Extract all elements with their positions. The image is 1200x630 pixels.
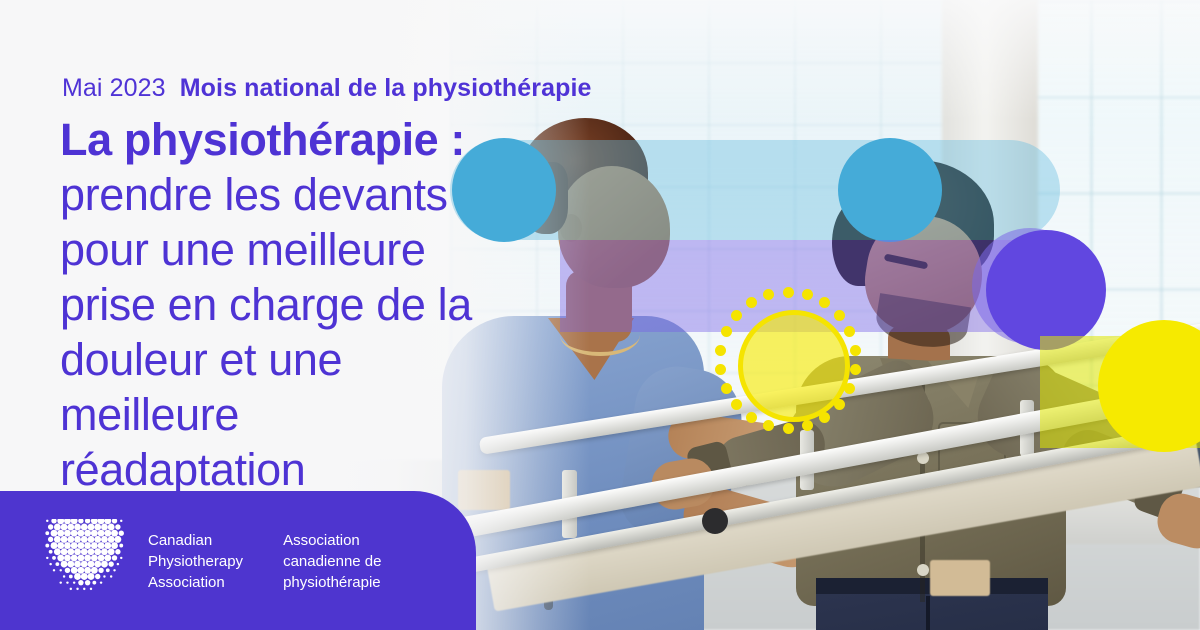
logo-panel: Canadian Physiotherapy Association Assoc… <box>0 491 476 630</box>
logo-name-english: Canadian Physiotherapy Association <box>148 530 243 593</box>
logo-en-line-1: Canadian <box>148 530 243 551</box>
logo-en-line-2: Physiotherapy <box>148 551 243 572</box>
logo-fr-line-1: Association <box>283 530 381 551</box>
eyebrow-campaign: Mois national de la physiothérapie <box>180 74 592 102</box>
logo-lockup: Canadian Physiotherapy Association Assoc… <box>44 519 382 603</box>
campaign-poster: Mai 2023 Mois national de la physiothéra… <box>0 0 1200 630</box>
eyebrow: Mai 2023 Mois national de la physiothéra… <box>62 74 592 103</box>
headline-rest: prendre les devants pour une meilleure p… <box>60 169 472 495</box>
bar-mount-right <box>930 560 990 596</box>
logo-wordmark: Canadian Physiotherapy Association Assoc… <box>148 530 382 593</box>
logo-fr-line-3: physiothérapie <box>283 572 381 593</box>
violet-circle-shape <box>986 230 1106 350</box>
eyebrow-date: Mai 2023 <box>62 74 173 102</box>
logo-name-french: Association canadienne de physiothérapie <box>283 530 381 593</box>
pain-point-disc <box>738 310 850 422</box>
headline-lead: La physiothérapie : <box>60 112 490 167</box>
bar-adjust-knob <box>702 508 728 534</box>
logo-en-line-3: Association <box>148 572 243 593</box>
logo-fr-line-2: canadienne de <box>283 551 381 572</box>
halftone-heart-icon <box>44 519 126 603</box>
pain-point-indicator <box>738 310 850 422</box>
blue-circle-shape-right <box>838 138 942 242</box>
page-title: La physiothérapie :prendre les devants p… <box>60 112 490 497</box>
